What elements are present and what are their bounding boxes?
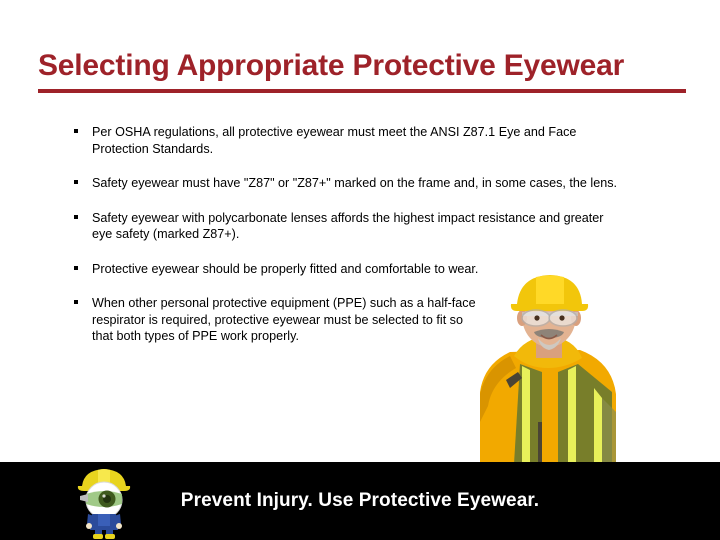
bullet-item-z87-marking: Safety eyewear must have "Z87" or "Z87+"… — [74, 175, 619, 192]
square-bullet-icon — [74, 180, 78, 184]
worker-wearing-safety-glasses-photo — [462, 272, 634, 464]
bullet-text: Safety eyewear with polycarbonate lenses… — [92, 210, 619, 243]
square-bullet-icon — [74, 129, 78, 133]
bullet-item-other-ppe: When other personal protective equipment… — [74, 295, 482, 345]
footer-tagline: Prevent Injury. Use Protective Eyewear. — [0, 490, 720, 512]
bullet-text: Per OSHA regulations, all protective eye… — [92, 124, 619, 157]
page-title: Selecting Appropriate Protective Eyewear — [38, 50, 688, 82]
slide-canvas: Selecting Appropriate Protective Eyewear… — [0, 0, 720, 540]
bullet-item-osha-regulations: Per OSHA regulations, all protective eye… — [74, 124, 619, 157]
bullet-text: When other personal protective equipment… — [92, 295, 482, 345]
bullet-item-polycarbonate-lenses: Safety eyewear with polycarbonate lenses… — [74, 210, 619, 243]
square-bullet-icon — [74, 266, 78, 270]
bullet-text: Safety eyewear must have "Z87" or "Z87+"… — [92, 175, 619, 192]
title-underline-rule — [38, 89, 686, 93]
square-bullet-icon — [74, 215, 78, 219]
square-bullet-icon — [74, 300, 78, 304]
